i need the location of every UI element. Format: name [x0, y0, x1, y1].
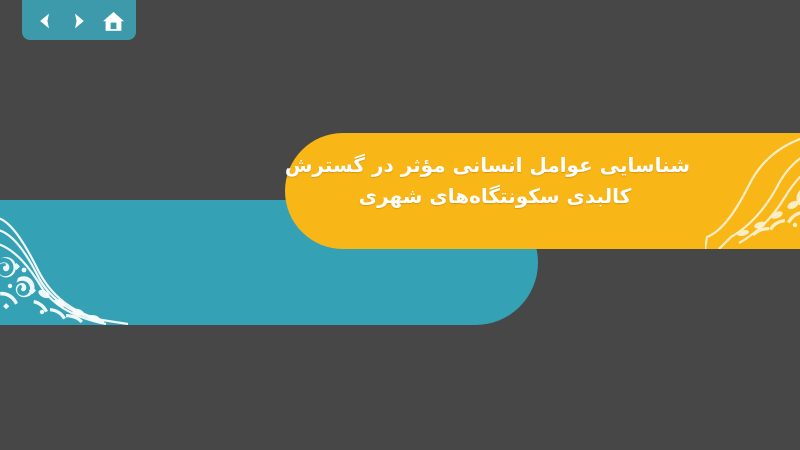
home-icon: [102, 11, 125, 32]
triangle-left-icon: [35, 11, 55, 31]
presentation-slide: شناسایی عوامل انسانی مؤثر در گسترش کالبد…: [0, 0, 800, 450]
triangle-right-icon: [69, 11, 89, 31]
slide-title: شناسایی عوامل انسانی مؤثر در گسترش کالبد…: [300, 150, 690, 212]
slide-title-line-2: کالبدی سکونتگاه‌های شهری: [300, 181, 690, 212]
home-button[interactable]: [99, 7, 127, 35]
next-slide-button[interactable]: [65, 7, 93, 35]
previous-slide-button[interactable]: [31, 7, 59, 35]
presentation-navigation-bar: [22, 0, 136, 40]
arabesque-corner-ornament-teal: [0, 200, 128, 325]
slide-title-line-1: شناسایی عوامل انسانی مؤثر در گسترش: [300, 150, 690, 181]
arabesque-corner-ornament-orange: [705, 133, 800, 249]
